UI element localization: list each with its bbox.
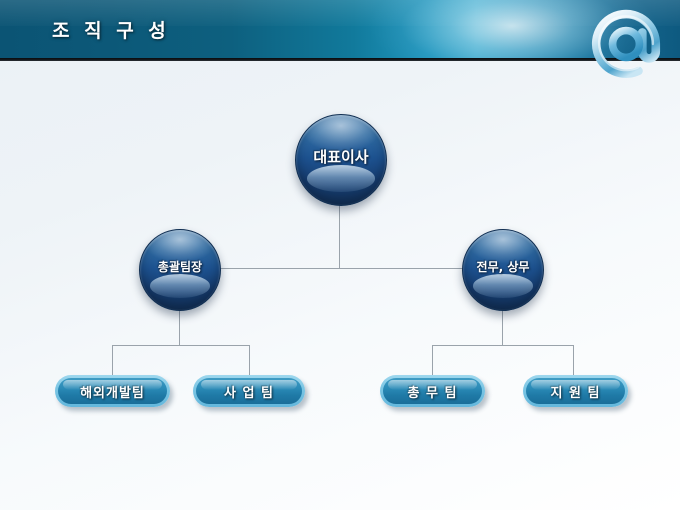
at-sign-logo-icon	[578, 0, 674, 92]
presentation-slide: 조 직 구 성	[0, 0, 680, 510]
connector-exec-crossbar	[432, 345, 574, 346]
connector-support-drop	[573, 345, 574, 376]
pill-inner: 지 원 팀	[526, 378, 625, 404]
sphere-reflection	[307, 165, 375, 192]
org-node-business[interactable]: 사 업 팀	[193, 375, 305, 407]
pill-inner: 사 업 팀	[196, 378, 302, 404]
connector-gm-crossbar	[112, 345, 250, 346]
org-node-overseas[interactable]: 해외개발팀	[55, 375, 170, 407]
org-node-ceo[interactable]: 대표이사	[295, 114, 387, 206]
page-title: 조 직 구 성	[52, 16, 170, 43]
connector-affairs-drop	[432, 345, 433, 376]
connector-exec-drop	[502, 308, 503, 346]
connector-gm-drop	[179, 308, 180, 346]
sphere-reflection	[150, 274, 211, 298]
sphere-reflection	[473, 274, 534, 298]
connector-overseas-drop	[112, 345, 113, 376]
org-node-exec-label: 전무, 상무	[477, 258, 530, 275]
connector-level2-crossbar	[217, 268, 463, 269]
org-node-exec[interactable]: 전무, 상무	[462, 229, 544, 311]
connector-business-drop	[249, 345, 250, 376]
org-node-gm[interactable]: 총괄팀장	[139, 229, 221, 311]
org-node-business-label: 사 업 팀	[224, 382, 274, 401]
org-node-ceo-label: 대표이사	[313, 146, 368, 167]
org-node-affairs-label: 총 무 팀	[408, 382, 458, 401]
org-node-affairs[interactable]: 총 무 팀	[380, 375, 485, 407]
org-node-overseas-label: 해외개발팀	[80, 382, 145, 401]
connector-ceo-drop	[339, 204, 340, 269]
pill-inner: 총 무 팀	[383, 378, 482, 404]
org-node-support-label: 지 원 팀	[551, 382, 601, 401]
org-node-support[interactable]: 지 원 팀	[523, 375, 628, 407]
pill-inner: 해외개발팀	[58, 378, 167, 404]
org-node-gm-label: 총괄팀장	[158, 258, 202, 275]
